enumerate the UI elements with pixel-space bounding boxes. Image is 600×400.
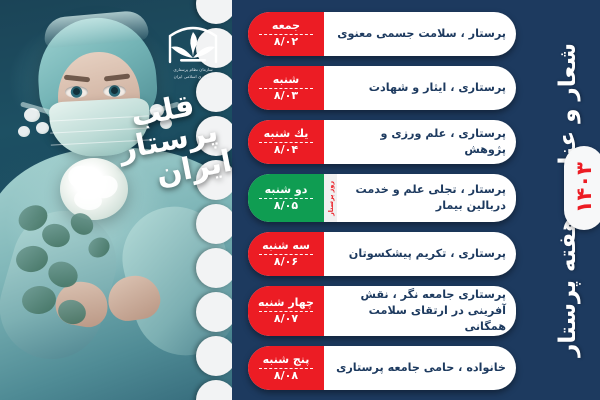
slogan-title: پرستاری ، علم ورزی و پژوهش	[324, 120, 516, 164]
nursing-organization-emblem-icon	[160, 16, 226, 66]
organization-logo: سازمان نظام پرستاری جمهوری اسلامی ایران	[160, 16, 226, 90]
slogan-title: خانواده ، حامی جامعه پرستاری	[324, 346, 516, 390]
list-item[interactable]: چهار شنبه ۸/۰۷ پرستاری جامعه نگر ، نقش آ…	[248, 286, 516, 336]
nurse-day-tag-label: روز پرستار	[327, 181, 335, 216]
badge-day-label: دو شنبه	[265, 184, 308, 197]
logo-caption-line-1: سازمان نظام پرستاری	[160, 67, 226, 73]
blossom-icon	[24, 108, 40, 122]
nurse-pupil-left	[73, 88, 80, 95]
blossom-icon	[160, 118, 172, 129]
poster-root: سازمان نظام پرستاری جمهوری اسلامی ایران …	[0, 0, 600, 400]
badge-day-label: پنج شنبه	[263, 354, 310, 367]
badge-day-label: چهار شنبه	[258, 297, 314, 310]
slogan-title: پرستاری جامعه نگر ، نقش آفرینی در ارتقای…	[324, 286, 516, 336]
badge-date-label: ۸/۰۸	[274, 370, 298, 382]
slogan-title: پرستاری ، تکریم پیشکسوتان	[324, 232, 516, 276]
badge-date-label: ۸/۰۶	[274, 256, 298, 268]
slogan-title: پرستار ، سلامت جسمی معنوی	[324, 12, 516, 56]
year-badge-label: ۱۴۰۳	[572, 162, 596, 213]
badge-date-label: ۸/۰۷	[274, 313, 298, 325]
day-badge: دو شنبه ۸/۰۵	[248, 174, 324, 222]
logo-caption-line-2: جمهوری اسلامی ایران	[160, 74, 226, 80]
blossom-icon	[18, 126, 30, 137]
list-item[interactable]: پنج شنبه ۸/۰۸ خانواده ، حامی جامعه پرستا…	[248, 346, 516, 390]
nurse-pupil-right	[111, 87, 118, 94]
day-badge: جمعه ۸/۰۲	[248, 12, 324, 56]
badge-date-label: ۸/۰۵	[274, 200, 298, 212]
list-item[interactable]: سه شنبه ۸/۰۶ پرستاری ، تکریم پیشکسوتان	[248, 232, 516, 276]
slogan-title: پرستاری ، ایثار و شهادت	[324, 66, 516, 110]
badge-day-label: جمعه	[272, 20, 300, 33]
list-item[interactable]: دو شنبه ۸/۰۵ روز پرستار پرستار ، تجلی عل…	[248, 174, 516, 222]
badge-day-label: يك شنبه	[264, 128, 309, 141]
badge-day-label: شنبه	[273, 74, 299, 87]
day-badge: يك شنبه ۸/۰۴	[248, 120, 324, 164]
nurse-day-tag: روز پرستار	[324, 174, 337, 222]
day-badge: شنبه ۸/۰۳	[248, 66, 324, 110]
list-item[interactable]: يك شنبه ۸/۰۴ پرستاری ، علم ورزی و پژوهش	[248, 120, 516, 164]
badge-date-label: ۸/۰۳	[274, 90, 298, 102]
day-badge: پنج شنبه ۸/۰۸	[248, 346, 324, 390]
badge-day-label: سه شنبه	[262, 240, 310, 253]
list-item[interactable]: شنبه ۸/۰۳ پرستاری ، ایثار و شهادت	[248, 66, 516, 110]
day-badge: سه شنبه ۸/۰۶	[248, 232, 324, 276]
day-badge: چهار شنبه ۸/۰۷	[248, 286, 324, 336]
list-item[interactable]: جمعه ۸/۰۲ پرستار ، سلامت جسمی معنوی	[248, 12, 516, 56]
year-badge: ۱۴۰۳	[564, 146, 600, 230]
slogan-list: جمعه ۸/۰۲ پرستار ، سلامت جسمی معنوی شنبه…	[248, 8, 540, 394]
blossom-icon	[36, 122, 49, 134]
blossom-icon	[150, 104, 164, 117]
slogan-title: پرستار ، تجلی علم و خدمت دربالین بیمار	[337, 174, 516, 222]
badge-date-label: ۸/۰۴	[274, 144, 298, 156]
badge-date-label: ۸/۰۲	[274, 36, 298, 48]
